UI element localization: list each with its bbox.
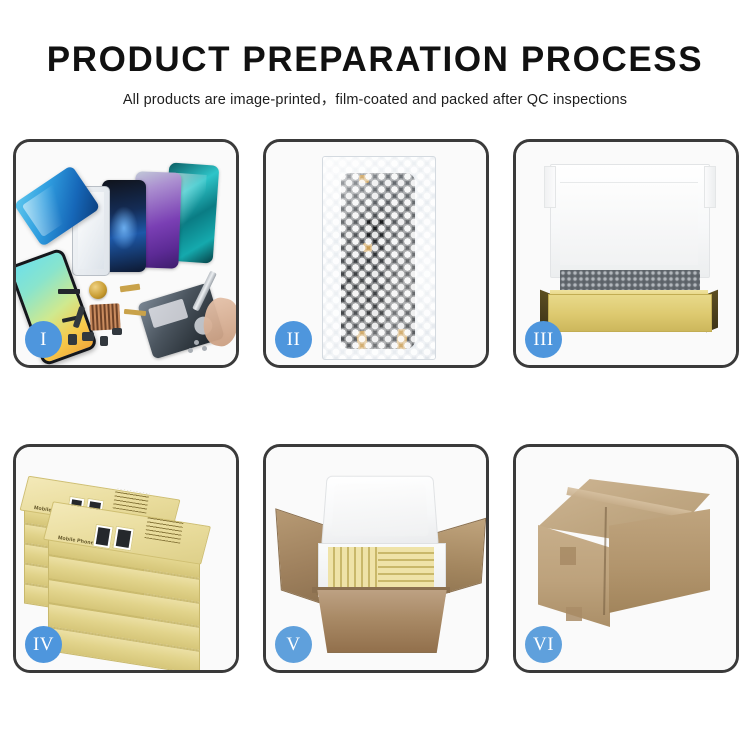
step-badge-5: V xyxy=(275,626,312,663)
step-panel-2: II xyxy=(263,139,489,368)
button-flex-part xyxy=(112,328,122,335)
bubble-wrap-bag xyxy=(322,156,436,360)
packed-retail-boxes xyxy=(328,547,434,587)
kraft-box-front xyxy=(548,294,712,332)
step-badge-6: VI xyxy=(525,626,562,663)
camera-module-part xyxy=(68,334,77,345)
process-step-grid: I II xyxy=(13,139,739,673)
screw-part xyxy=(188,348,193,353)
carton-front-wall xyxy=(310,589,454,653)
step-badge-4: IV xyxy=(25,626,62,663)
lid-tab-right xyxy=(704,166,716,208)
foam-cooler-lid xyxy=(321,476,439,548)
plastic-glare xyxy=(323,157,435,359)
carton-label-patch-upper xyxy=(560,547,576,565)
lid-tab-left xyxy=(544,166,556,208)
chip-array-part xyxy=(89,303,120,331)
flex-cable-gold xyxy=(124,309,146,316)
boxes-vertical-group xyxy=(328,547,378,587)
step-panel-4: Mobile Phone Spare Parts Mobile Phone Sp… xyxy=(13,444,239,673)
step-panel-1: I xyxy=(13,139,239,368)
page-title: PRODUCT PREPARATION PROCESS xyxy=(0,0,750,79)
step-badge-2: II xyxy=(275,321,312,358)
lid-inner-face xyxy=(560,182,698,265)
screw-part xyxy=(194,340,199,345)
vibration-motor-part xyxy=(89,281,107,299)
step-badge-1: I xyxy=(25,321,62,358)
step-badge-3: III xyxy=(525,321,562,358)
step-panel-6: VI xyxy=(513,444,739,673)
product-preparation-infographic: PRODUCT PREPARATION PROCESS All products… xyxy=(0,0,750,750)
page-subtitle: All products are image-printed，film-coat… xyxy=(0,79,750,109)
step-panel-3: III xyxy=(513,139,739,368)
speaker-part xyxy=(82,332,94,341)
box-print-swatch xyxy=(112,526,134,552)
step-panel-5: V xyxy=(263,444,489,673)
flex-connector-gold xyxy=(120,284,141,293)
sim-tray-part xyxy=(100,336,108,346)
header: PRODUCT PREPARATION PROCESS All products… xyxy=(0,0,750,109)
earpiece-mesh-part xyxy=(58,289,80,294)
boxes-horizontal-group xyxy=(378,547,434,587)
carton-label-patch-lower xyxy=(566,607,582,621)
screw-part xyxy=(202,346,207,351)
box-print-swatch xyxy=(92,524,113,550)
carton-side-face xyxy=(609,509,710,613)
